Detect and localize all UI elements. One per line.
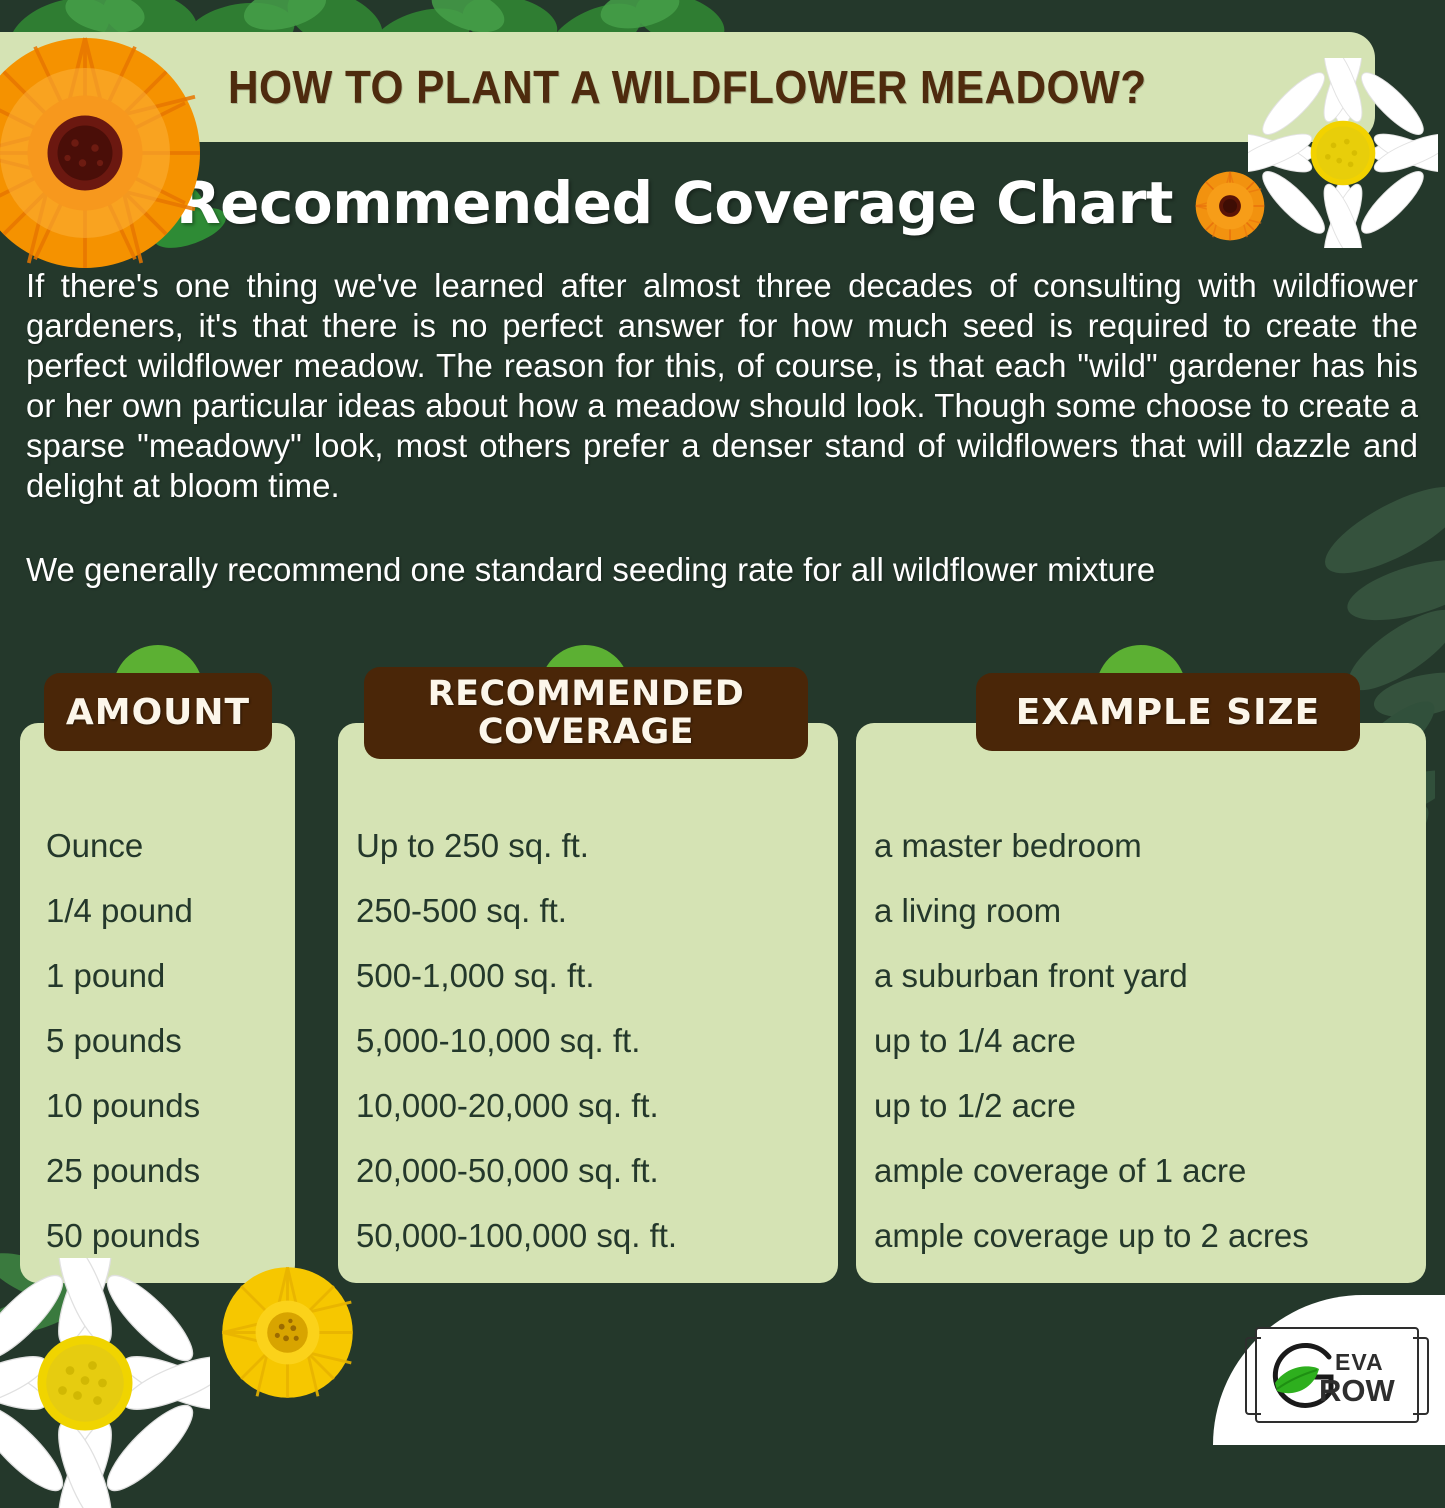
table-row: 50 pounds: [46, 1203, 200, 1268]
coverage-table: AMOUNT RECOMMENDED COVERAGE EXAMPLE SIZE…: [0, 645, 1445, 1290]
logo-frame: EVA ROW: [1255, 1327, 1419, 1423]
table-row: 10 pounds: [46, 1073, 200, 1138]
table-row: 1/4 pound: [46, 878, 200, 943]
title-banner: HOW TO PLANT A WILDFLOWER MEADOW?: [0, 32, 1375, 142]
table-row: a living room: [874, 878, 1309, 943]
table-row: ample coverage up to 2 acres: [874, 1203, 1309, 1268]
table-row: 5,000-10,000 sq. ft.: [356, 1008, 677, 1073]
table-row: 50,000-100,000 sq. ft.: [356, 1203, 677, 1268]
table-row: 20,000-50,000 sq. ft.: [356, 1138, 677, 1203]
example-cells: a master bedroom a living room a suburba…: [874, 813, 1309, 1268]
table-row: up to 1/4 acre: [874, 1008, 1309, 1073]
logo-text-eva: EVA: [1335, 1349, 1384, 1376]
column-header-coverage-line1: RECOMMENDED: [428, 675, 745, 713]
table-row: Up to 250 sq. ft.: [356, 813, 677, 878]
table-row: up to 1/2 acre: [874, 1073, 1309, 1138]
page-subtitle: Recommended Coverage Chart: [176, 169, 1173, 237]
column-header-example-size: EXAMPLE SIZE: [976, 673, 1360, 751]
table-row: 500-1,000 sq. ft.: [356, 943, 677, 1008]
table-row: Ounce: [46, 813, 200, 878]
coverage-cells: Up to 250 sq. ft. 250-500 sq. ft. 500-1,…: [356, 813, 677, 1268]
column-header-amount: AMOUNT: [44, 673, 272, 751]
logo-text-row: ROW: [1319, 1373, 1395, 1409]
page-title: HOW TO PLANT A WILDFLOWER MEADOW?: [228, 60, 1147, 114]
table-row: 1 pound: [46, 943, 200, 1008]
table-row: 25 pounds: [46, 1138, 200, 1203]
table-row: 5 pounds: [46, 1008, 200, 1073]
subtitle-row: Recommended Coverage Chart: [0, 160, 1445, 246]
table-row: ample coverage of 1 acre: [874, 1138, 1309, 1203]
column-header-coverage-line2: COVERAGE: [428, 713, 745, 751]
intro-paragraph-2: We generally recommend one standard seed…: [26, 550, 1418, 590]
intro-copy: If there's one thing we've learned after…: [26, 266, 1418, 590]
table-row: a suburban front yard: [874, 943, 1309, 1008]
table-row: 10,000-20,000 sq. ft.: [356, 1073, 677, 1138]
marigold-flower-icon: [1191, 167, 1269, 245]
amount-cells: Ounce 1/4 pound 1 pound 5 pounds 10 poun…: [46, 813, 200, 1268]
table-row: a master bedroom: [874, 813, 1309, 878]
table-row: 250-500 sq. ft.: [356, 878, 677, 943]
column-header-recommended-coverage: RECOMMENDED COVERAGE: [364, 667, 808, 759]
white-daisy-bottomleft: [0, 1258, 210, 1508]
intro-paragraph-1: If there's one thing we've learned after…: [26, 266, 1418, 506]
